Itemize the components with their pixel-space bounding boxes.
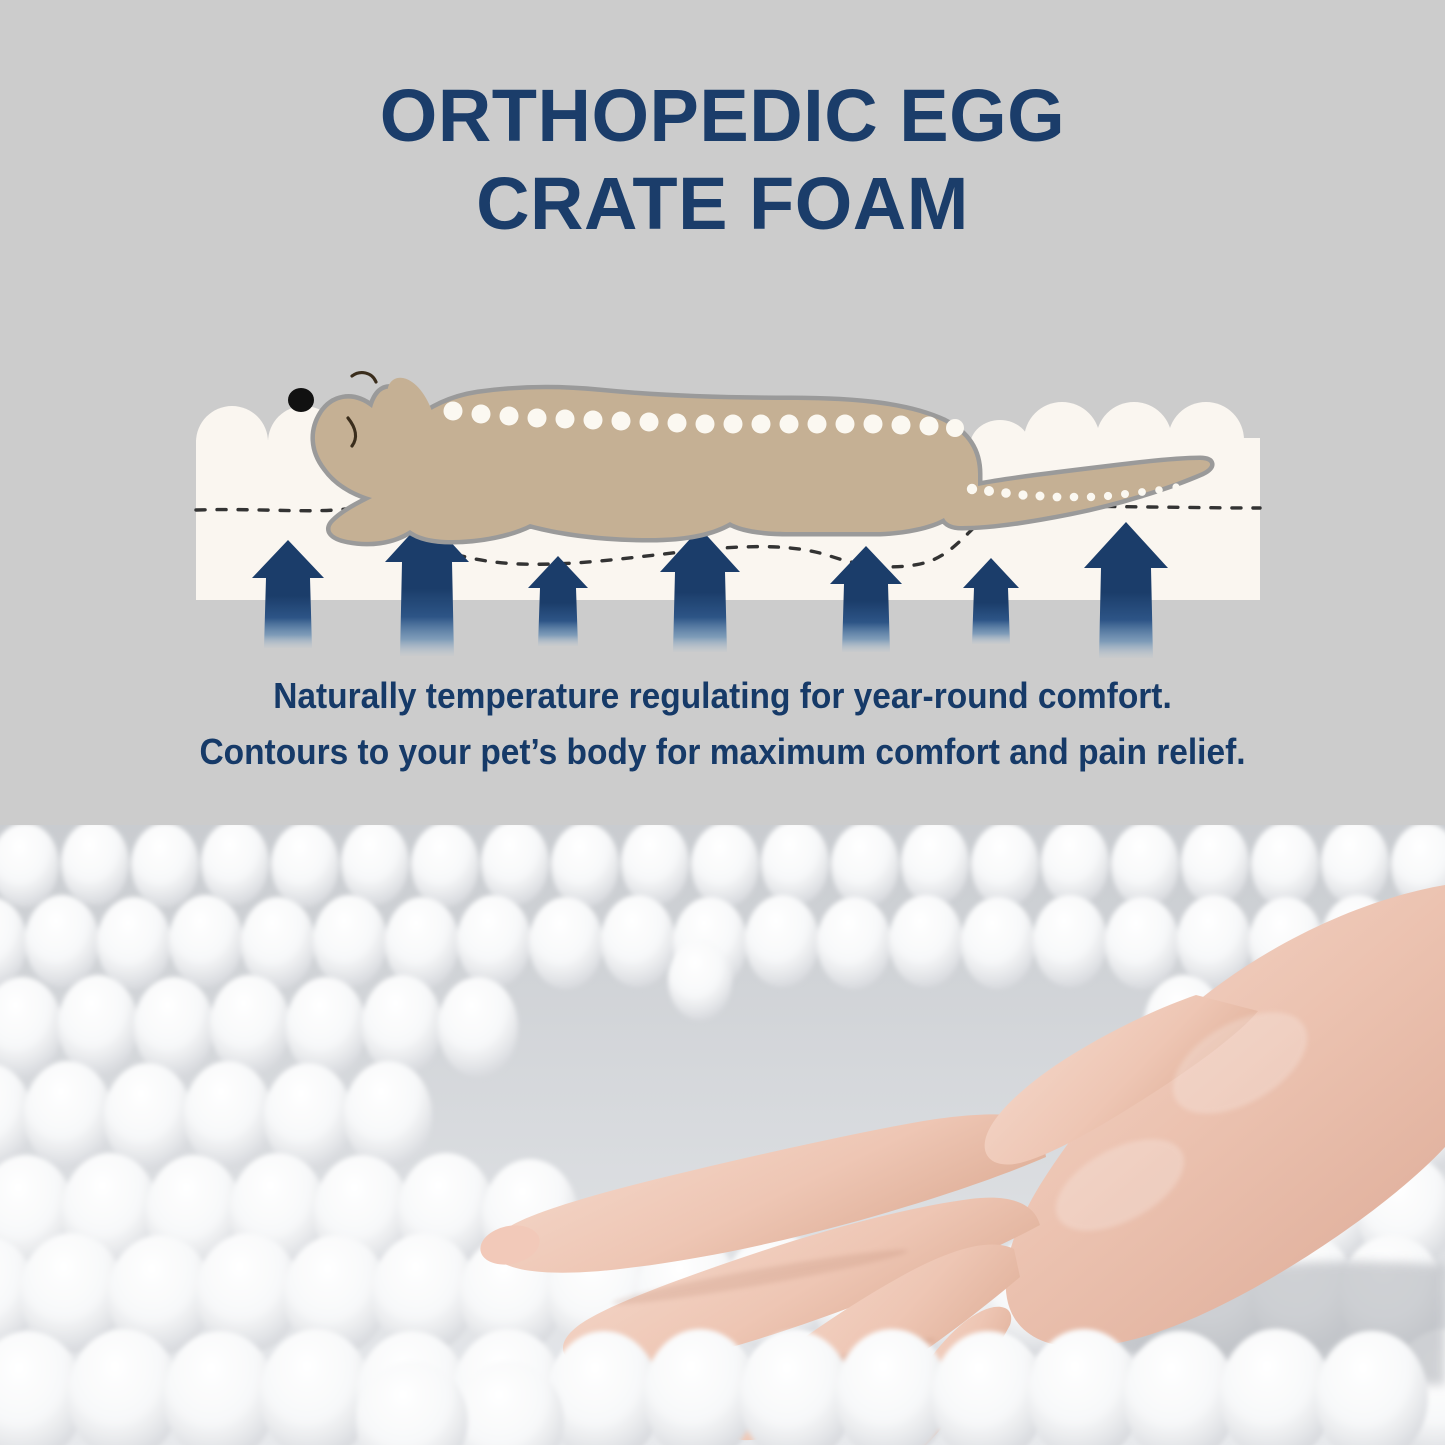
feature-description: Naturally temperature regulating for yea… (0, 668, 1445, 780)
peak-between-fingers (668, 940, 732, 1020)
feature-callout-panel: ORTHOPEDIC EGG CRATE FOAM (0, 0, 1445, 825)
dog-nose (288, 388, 314, 412)
caption-line-2: Contours to your pet’s body for maximum … (51, 724, 1395, 780)
page-title: ORTHOPEDIC EGG CRATE FOAM (0, 72, 1445, 248)
caption-line-1: Naturally temperature regulating for yea… (51, 668, 1395, 724)
hand-pressing-foam-photo (0, 825, 1445, 1445)
headline-line-2: CRATE FOAM (0, 160, 1445, 248)
dog-closed-eye (352, 373, 376, 382)
headline-line-1: ORTHOPEDIC EGG (0, 72, 1445, 160)
dog-on-foam-illustration (0, 288, 1445, 658)
